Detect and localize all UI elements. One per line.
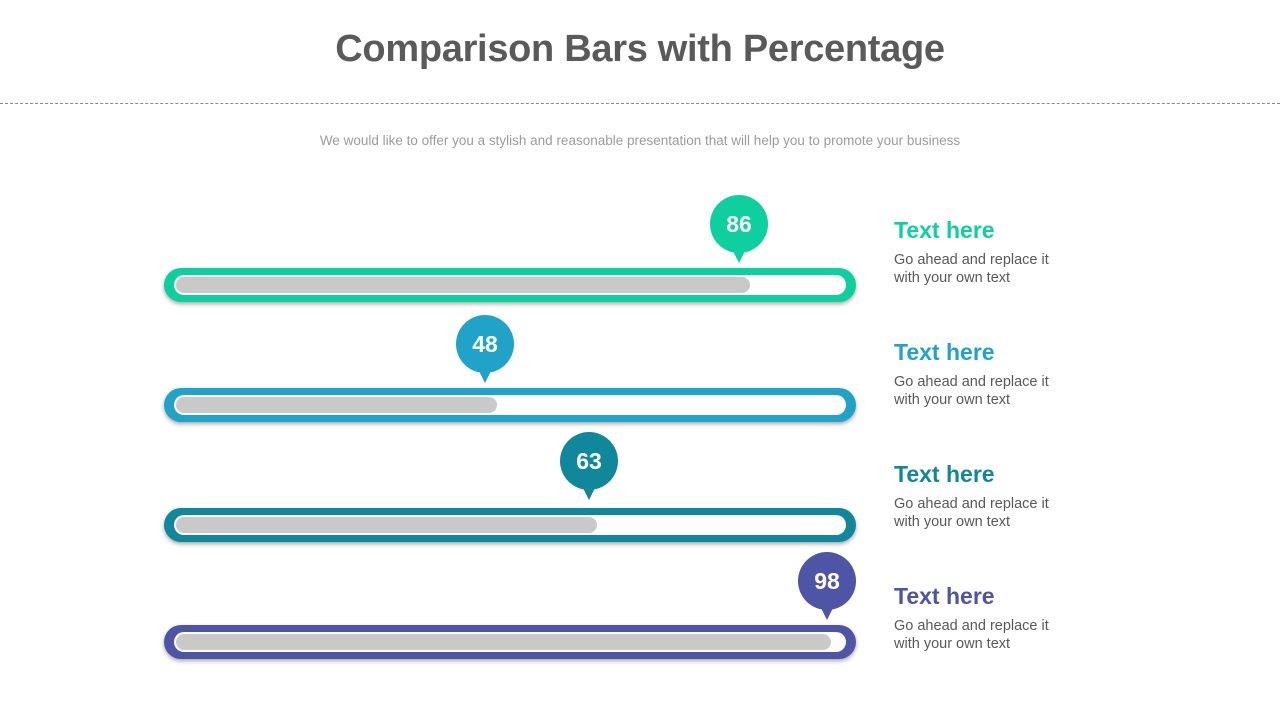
progress-bar[interactable]	[164, 508, 856, 542]
badge-pointer-icon	[579, 480, 599, 500]
row-heading: Text here	[894, 584, 1194, 609]
row-description: Go ahead and replace it with your own te…	[894, 251, 1194, 287]
slide-subtitle: We would like to offer you a stylish and…	[0, 133, 1280, 148]
row-description: Go ahead and replace it with your own te…	[894, 373, 1194, 409]
row-text-block: Text here Go ahead and replace it with y…	[894, 584, 1194, 654]
badge-pointer-icon	[817, 600, 837, 620]
progress-bar-fill	[176, 277, 750, 293]
progress-bar[interactable]	[164, 268, 856, 302]
percentage-badge[interactable]: 48	[456, 315, 514, 387]
progress-bar-track	[174, 275, 846, 295]
percentage-badge[interactable]: 86	[710, 195, 768, 267]
progress-bar[interactable]	[164, 388, 856, 422]
row-text-block: Text here Go ahead and replace it with y…	[894, 340, 1194, 410]
row-description: Go ahead and replace it with your own te…	[894, 495, 1194, 531]
progress-bar-fill	[176, 634, 831, 650]
row-text-block: Text here Go ahead and replace it with y…	[894, 218, 1194, 288]
percentage-badge[interactable]: 98	[798, 552, 856, 624]
progress-bar[interactable]	[164, 625, 856, 659]
percentage-badge[interactable]: 63	[560, 432, 618, 504]
row-heading: Text here	[894, 462, 1194, 487]
progress-bar-fill	[176, 517, 597, 533]
row-text-block: Text here Go ahead and replace it with y…	[894, 462, 1194, 532]
row-heading: Text here	[894, 218, 1194, 243]
row-heading: Text here	[894, 340, 1194, 365]
row-description: Go ahead and replace it with your own te…	[894, 617, 1194, 653]
comparison-row: 98 Text here Go ahead and replace it wit…	[0, 0, 1280, 120]
badge-pointer-icon	[729, 243, 749, 263]
badge-pointer-icon	[475, 363, 495, 383]
progress-bar-track	[174, 632, 846, 652]
progress-bar-track	[174, 515, 846, 535]
progress-bar-track	[174, 395, 846, 415]
progress-bar-fill	[176, 397, 497, 413]
